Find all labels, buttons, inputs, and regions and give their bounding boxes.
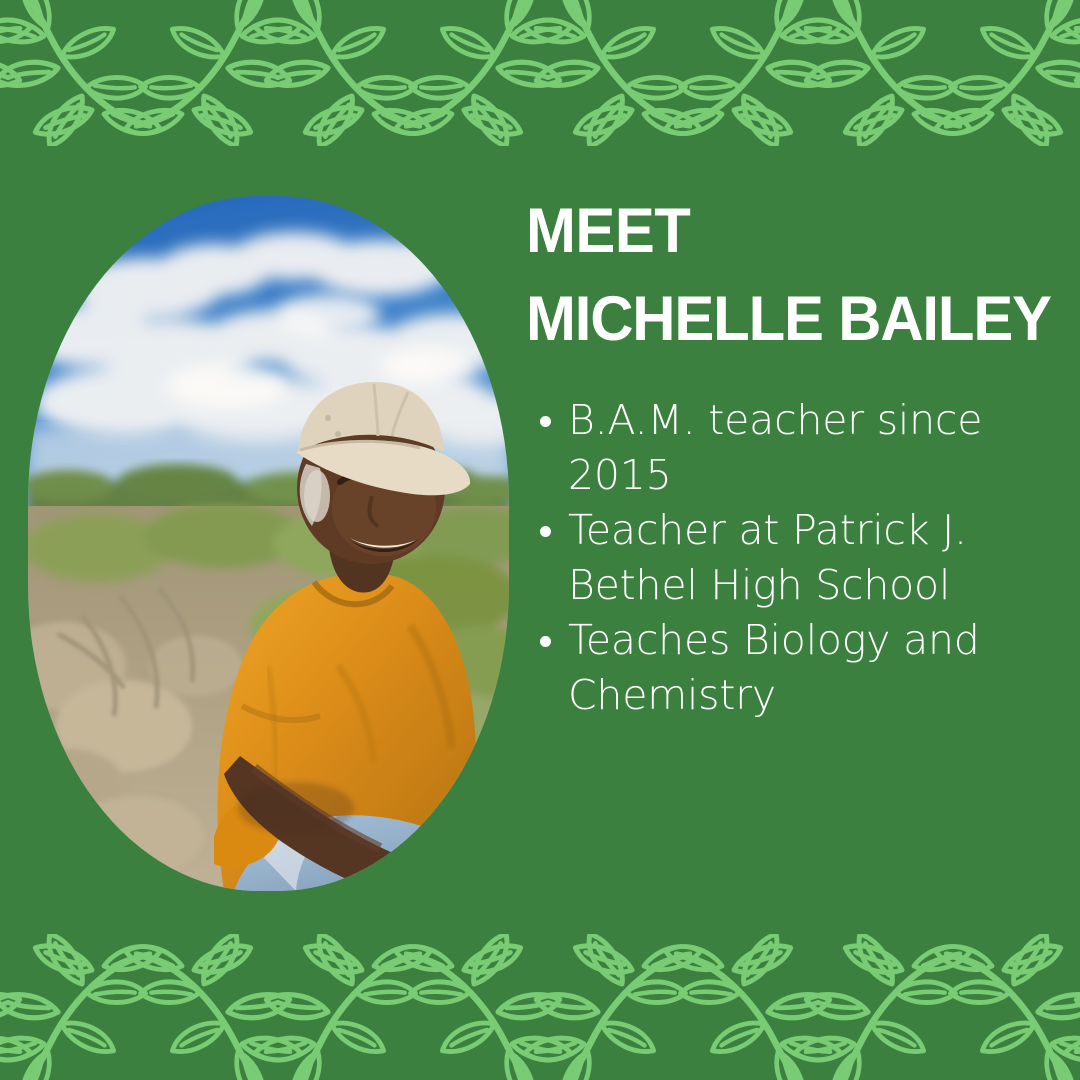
leaf-sprig-group [0, 0, 1080, 146]
list-item-label: B.A.M. teacher since 2015 [568, 396, 982, 499]
top-leaf-border [0, 0, 1080, 146]
list-item: Teaches Biology and Chemistry [526, 613, 1028, 723]
page-title: MEET MICHELLE BAILEY [526, 200, 1044, 351]
list-item: Teacher at Patrick J. Bethel High School [526, 503, 1028, 613]
headline-line-2: MICHELLE BAILEY [526, 288, 1044, 351]
list-item-label: Teaches Biology and Chemistry [568, 616, 980, 719]
headline-line-1: MEET [526, 200, 1044, 263]
bullet-dot-icon [540, 526, 551, 537]
bullet-dot-icon [540, 636, 551, 647]
poster-canvas: MEET MICHELLE BAILEY B.A.M. teacher sinc… [0, 0, 1080, 1080]
bullet-dot-icon [540, 416, 551, 427]
bottom-leaf-border [0, 934, 1080, 1080]
portrait-frame [28, 196, 509, 891]
bio-bullet-list: B.A.M. teacher since 2015 Teacher at Pat… [526, 393, 1071, 723]
list-item: B.A.M. teacher since 2015 [526, 393, 1028, 503]
text-column: MEET MICHELLE BAILEY B.A.M. teacher sinc… [526, 158, 1071, 723]
list-item-label: Teacher at Patrick J. Bethel High School [568, 506, 967, 609]
leaf-sprig-group [0, 934, 1080, 1080]
portrait-photo [28, 196, 509, 891]
